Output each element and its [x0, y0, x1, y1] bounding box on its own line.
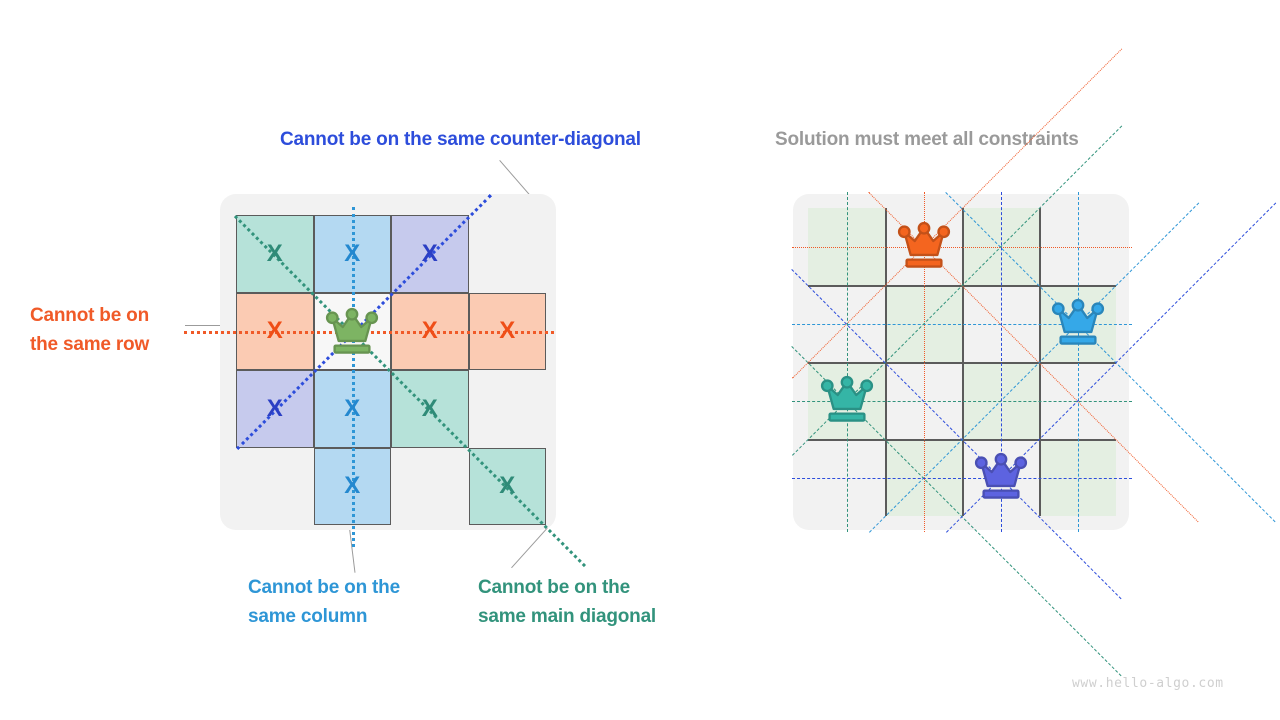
board-cell[interactable] — [314, 448, 392, 526]
board-cell[interactable] — [314, 215, 392, 293]
leader-line-main-diagonal — [511, 527, 548, 568]
solution-board[interactable] — [808, 208, 1116, 516]
label-row: Cannot be on the same row — [30, 301, 220, 359]
board-cell[interactable] — [391, 215, 469, 293]
solution-cell[interactable] — [808, 285, 885, 362]
label-solution-title: Solution must meet all constraints — [775, 125, 1079, 154]
solution-cell[interactable] — [1039, 439, 1116, 516]
board-cell[interactable] — [391, 293, 469, 371]
solution-cell[interactable] — [885, 362, 962, 439]
solution-cell[interactable] — [962, 439, 1039, 516]
label-counter-diagonal: Cannot be on the same counter-diagonal — [280, 125, 641, 154]
solution-cell[interactable] — [885, 439, 962, 516]
grid-line-h — [808, 439, 1116, 441]
site-watermark: www.hello-algo.com — [1072, 676, 1224, 691]
board-cell[interactable] — [469, 293, 547, 371]
leader-line-column — [349, 528, 355, 573]
solution-cell[interactable] — [885, 208, 962, 285]
board-cell[interactable] — [236, 370, 314, 448]
board-cell-queen[interactable] — [314, 293, 392, 371]
grid-line-v — [1039, 208, 1041, 516]
solution-cell[interactable] — [808, 362, 885, 439]
solution-cell[interactable] — [885, 285, 962, 362]
board-cell[interactable] — [314, 370, 392, 448]
board-cell[interactable] — [391, 370, 469, 448]
solution-cell[interactable] — [808, 208, 885, 285]
solution-cell[interactable] — [1039, 208, 1116, 285]
label-column: Cannot be on the same column — [248, 573, 448, 631]
solution-cell[interactable] — [1039, 362, 1116, 439]
solution-cell[interactable] — [962, 362, 1039, 439]
board-cell[interactable] — [236, 215, 314, 293]
solution-cell[interactable] — [962, 208, 1039, 285]
grid-line-v — [962, 208, 964, 516]
constraints-board[interactable]: XXXXXXXXXXX — [236, 215, 546, 525]
solution-cell[interactable] — [962, 285, 1039, 362]
solution-cell[interactable] — [1039, 285, 1116, 362]
board-cell[interactable] — [469, 448, 547, 526]
solution-cell[interactable] — [808, 439, 885, 516]
diagram-canvas: Cannot be on the same counter-diagonal C… — [0, 0, 1280, 720]
board-cell[interactable] — [236, 293, 314, 371]
label-main-diagonal: Cannot be on the same main diagonal — [478, 573, 708, 631]
